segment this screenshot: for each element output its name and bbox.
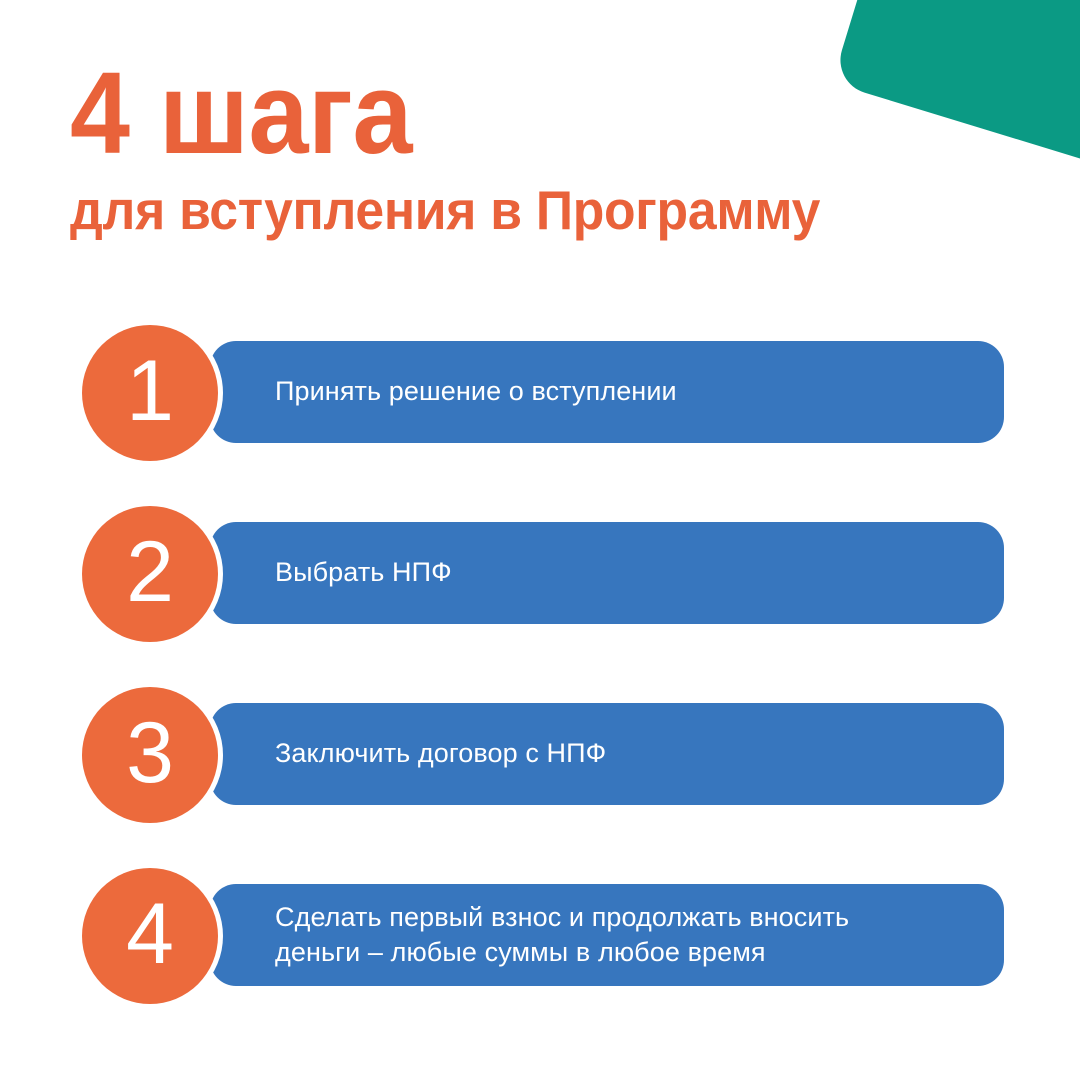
step-bar-2: Выбрать НПФ (210, 522, 1004, 624)
step-number-3: 3 (126, 710, 174, 796)
step-bar-3: Заключить договор с НПФ (210, 703, 1004, 805)
step-number-2: 2 (126, 529, 174, 615)
step-label-1: Принять решение о вступлении (210, 374, 717, 409)
step-item-1: Принять решение о вступлении 1 (0, 325, 1080, 461)
step-label-3: Заключить договор с НПФ (210, 736, 646, 771)
step-item-3: Заключить договор с НПФ 3 (0, 687, 1080, 823)
step-label-2: Выбрать НПФ (210, 555, 492, 590)
step-number-1: 1 (126, 348, 174, 434)
step-label-4: Сделать первый взнос и продолжать вносит… (210, 900, 889, 970)
headline-main-text: 4 шага (70, 54, 926, 172)
step-item-2: Выбрать НПФ 2 (0, 506, 1080, 642)
step-number-badge-1: 1 (82, 325, 218, 461)
step-number-4: 4 (126, 891, 174, 977)
step-number-badge-4: 4 (82, 868, 218, 1004)
step-number-badge-2: 2 (82, 506, 218, 642)
step-item-4: Сделать первый взнос и продолжать вносит… (0, 868, 1080, 1004)
steps-list: Принять решение о вступлении 1 Выбрать Н… (0, 325, 1080, 1004)
step-bar-4: Сделать первый взнос и продолжать вносит… (210, 884, 1004, 986)
headline-subtitle-text: для вступления в Программу (70, 182, 935, 240)
infographic-canvas: 4 шага для вступления в Программу Принят… (0, 0, 1080, 1080)
step-bar-1: Принять решение о вступлении (210, 341, 1004, 443)
step-number-badge-3: 3 (82, 687, 218, 823)
page-title: 4 шага для вступления в Программу (70, 54, 990, 240)
